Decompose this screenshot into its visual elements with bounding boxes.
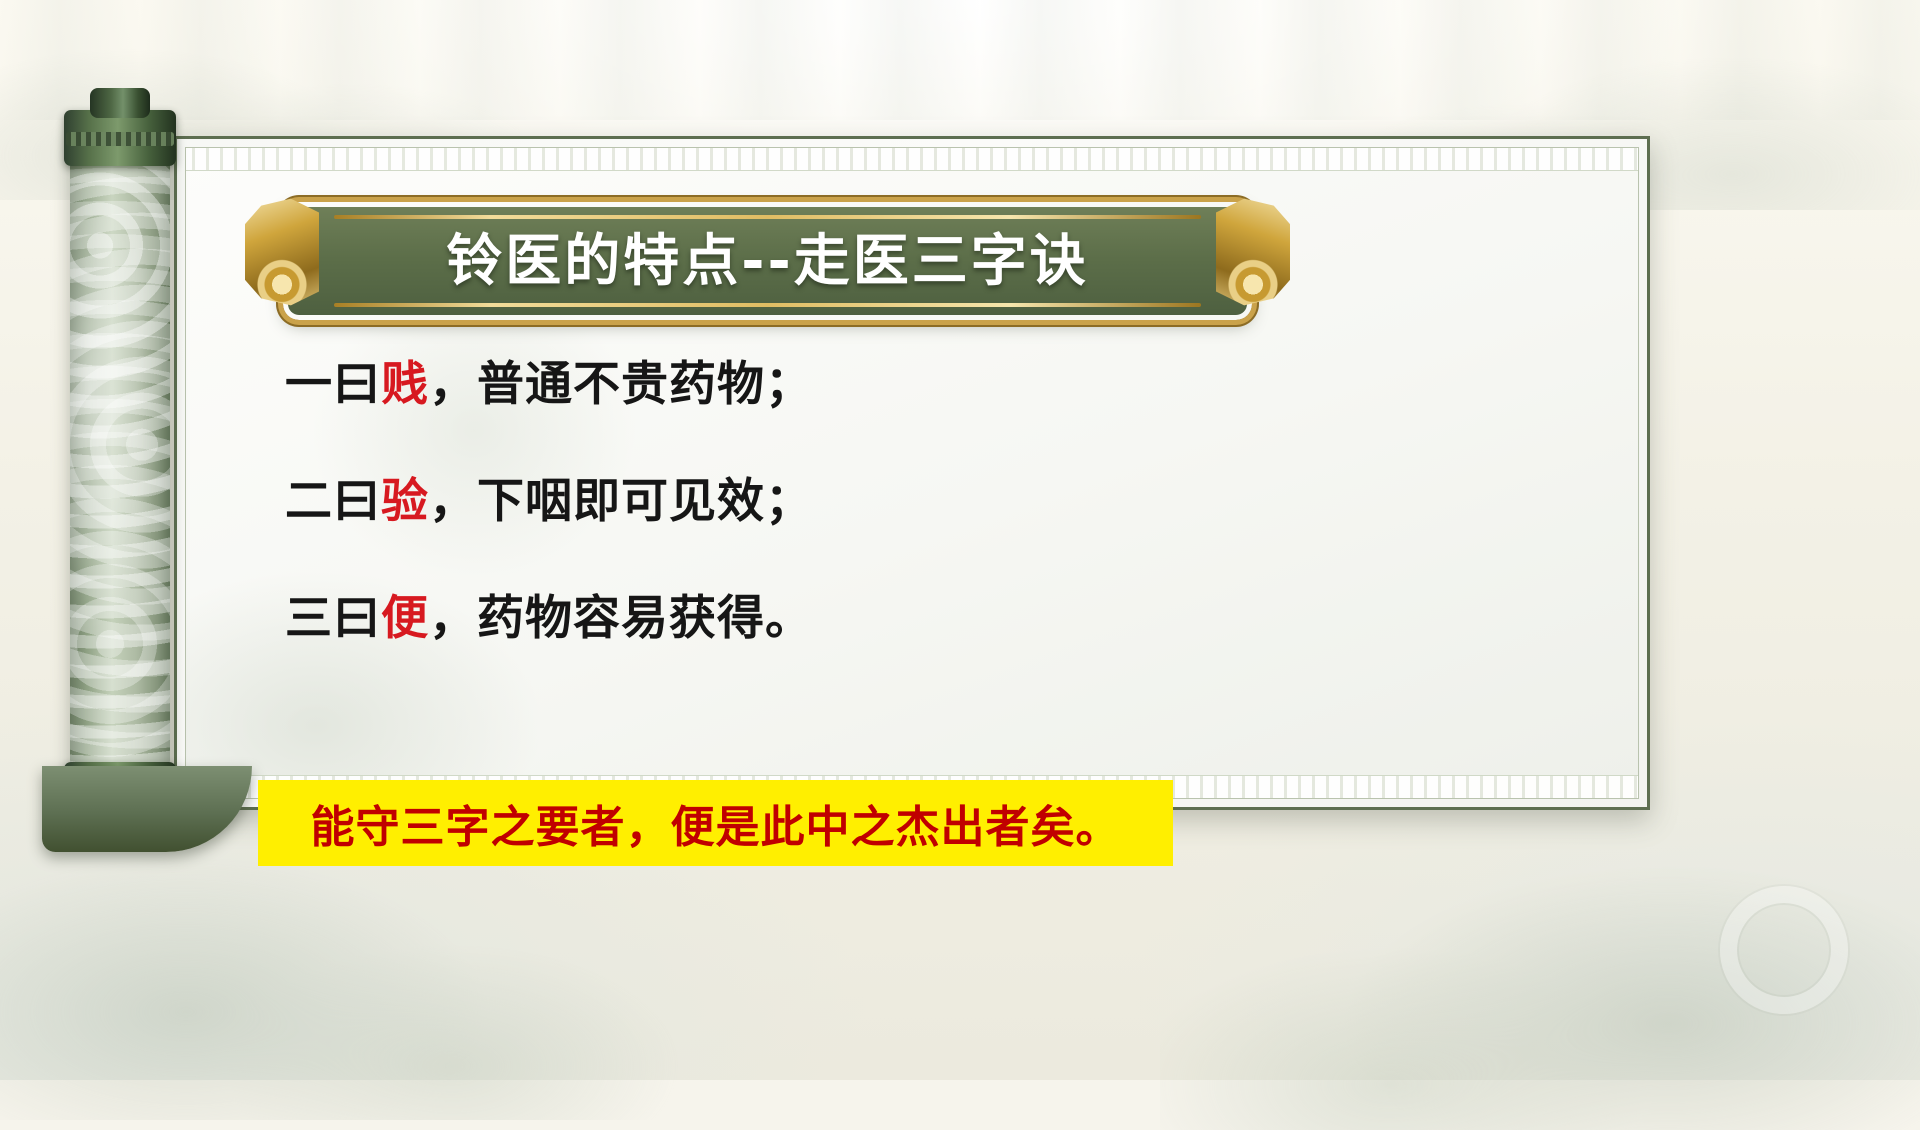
- body-line-2-prefix: 二曰: [285, 474, 381, 529]
- body-line-1-rest: ，普通不贵药物；: [429, 357, 813, 412]
- body-line-2-keyword: 验: [381, 474, 429, 529]
- scroll-roller-body: [70, 126, 170, 790]
- highlight-box: 能守三字之要者，便是此中之杰出者矣。: [258, 780, 1173, 866]
- body-line-2-rest: ，下咽即可见效；: [429, 474, 813, 529]
- body-line-3-prefix: 三曰: [285, 591, 381, 646]
- body-line-1-keyword: 贱: [381, 357, 429, 412]
- scroll-roller-ridge-top: [66, 132, 174, 146]
- scroll-roller-icon: [56, 88, 184, 828]
- ring-watermark-icon: [1720, 886, 1848, 1014]
- body-line-3: 三曰便，药物容易获得。: [285, 579, 1385, 648]
- body-line-3-rest: ，药物容易获得。: [429, 591, 813, 646]
- body-line-1: 一曰贱，普通不贵药物；: [285, 345, 1385, 414]
- body-line-3-keyword: 便: [381, 591, 429, 646]
- body-line-1-prefix: 一曰: [285, 357, 381, 412]
- body-text-list: 一曰贱，普通不贵药物； 二曰验，下咽即可见效； 三曰便，药物容易获得。: [285, 345, 1385, 696]
- highlight-text: 能守三字之要者，便是此中之杰出者矣。: [311, 791, 1121, 855]
- page-title: 铃医的特点--走医三字诀: [283, 202, 1252, 310]
- scroll-roller-knob-top: [90, 88, 150, 118]
- paper-band-top: [186, 148, 1638, 171]
- ring-watermark-shape: [1720, 886, 1848, 1014]
- title-banner: 铃医的特点--走医三字诀: [245, 202, 1290, 310]
- body-line-2: 二曰验，下咽即可见效；: [285, 462, 1385, 531]
